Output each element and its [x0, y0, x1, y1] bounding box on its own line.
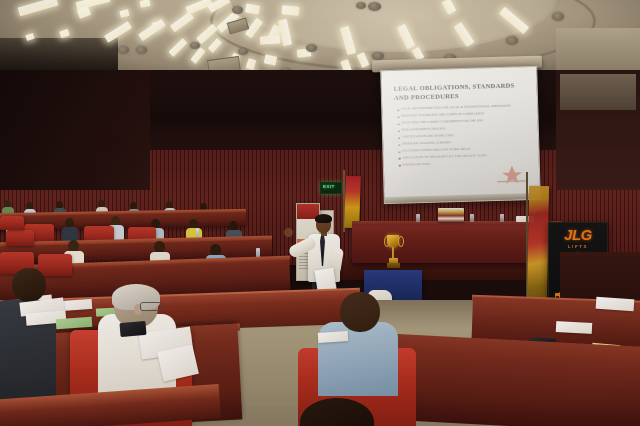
ceiling-light	[119, 9, 129, 18]
downlight	[238, 48, 248, 55]
ceiling-light	[190, 47, 205, 64]
water-bottle	[196, 228, 199, 237]
downlight	[372, 52, 384, 60]
auditorium-seat	[0, 216, 24, 230]
jlg-logo-text: JLG	[553, 228, 603, 243]
downlight	[118, 46, 129, 54]
ceiling-light	[18, 0, 59, 16]
sri-lanka-flag-right	[527, 186, 549, 306]
downlight	[232, 6, 243, 14]
projection-screen: LEGAL OBLIGATIONS, STANDARDS AND PROCEDU…	[380, 66, 541, 204]
ceiling-light	[170, 12, 194, 33]
paper-sheet	[596, 297, 635, 312]
auditorium-seat	[6, 230, 34, 246]
ceiling-light	[260, 35, 281, 44]
downlight	[552, 12, 564, 21]
ceiling-light	[104, 21, 132, 43]
stacked-files	[438, 208, 464, 222]
downlight	[506, 36, 518, 45]
trophy-handle	[384, 236, 390, 247]
drinking-glass	[500, 214, 504, 222]
ceiling-light	[59, 29, 70, 38]
ceiling-light	[208, 38, 223, 53]
paper-sheet	[556, 321, 593, 334]
ceiling-light	[168, 38, 187, 57]
gold-trophy	[385, 235, 401, 275]
exit-sign-label: EXIT	[323, 184, 335, 189]
trophy-plinth	[387, 263, 400, 268]
screen-glare	[381, 67, 540, 203]
presenter-hair	[315, 214, 332, 223]
downlight	[368, 2, 381, 11]
ceiling-light	[246, 58, 257, 70]
drinking-glass	[416, 214, 420, 222]
ceiling-light	[282, 5, 300, 16]
back-wall-right-lit-area	[560, 74, 636, 110]
ceiling-light	[139, 0, 150, 8]
jlg-subtitle: LIFTS	[553, 244, 603, 249]
eyeglasses-icon	[140, 302, 162, 311]
downlight	[190, 42, 200, 49]
exit-sign: EXIT	[320, 182, 342, 194]
downlight	[306, 44, 317, 52]
attendee-head	[12, 268, 46, 302]
trophy-handle	[398, 236, 404, 247]
auditorium-photo: LEGAL OBLIGATIONS, STANDARDS AND PROCEDU…	[0, 0, 640, 426]
tablet-device	[119, 321, 146, 337]
ceiling-light	[264, 54, 278, 65]
ceiling	[0, 0, 640, 78]
downlight	[136, 46, 147, 54]
auditorium-seat	[38, 254, 72, 276]
back-wall-left-shadow	[0, 70, 150, 190]
paper-sheet	[318, 331, 349, 343]
drinking-glass	[470, 214, 474, 222]
attendee-head	[340, 292, 380, 332]
downlight	[356, 2, 366, 9]
